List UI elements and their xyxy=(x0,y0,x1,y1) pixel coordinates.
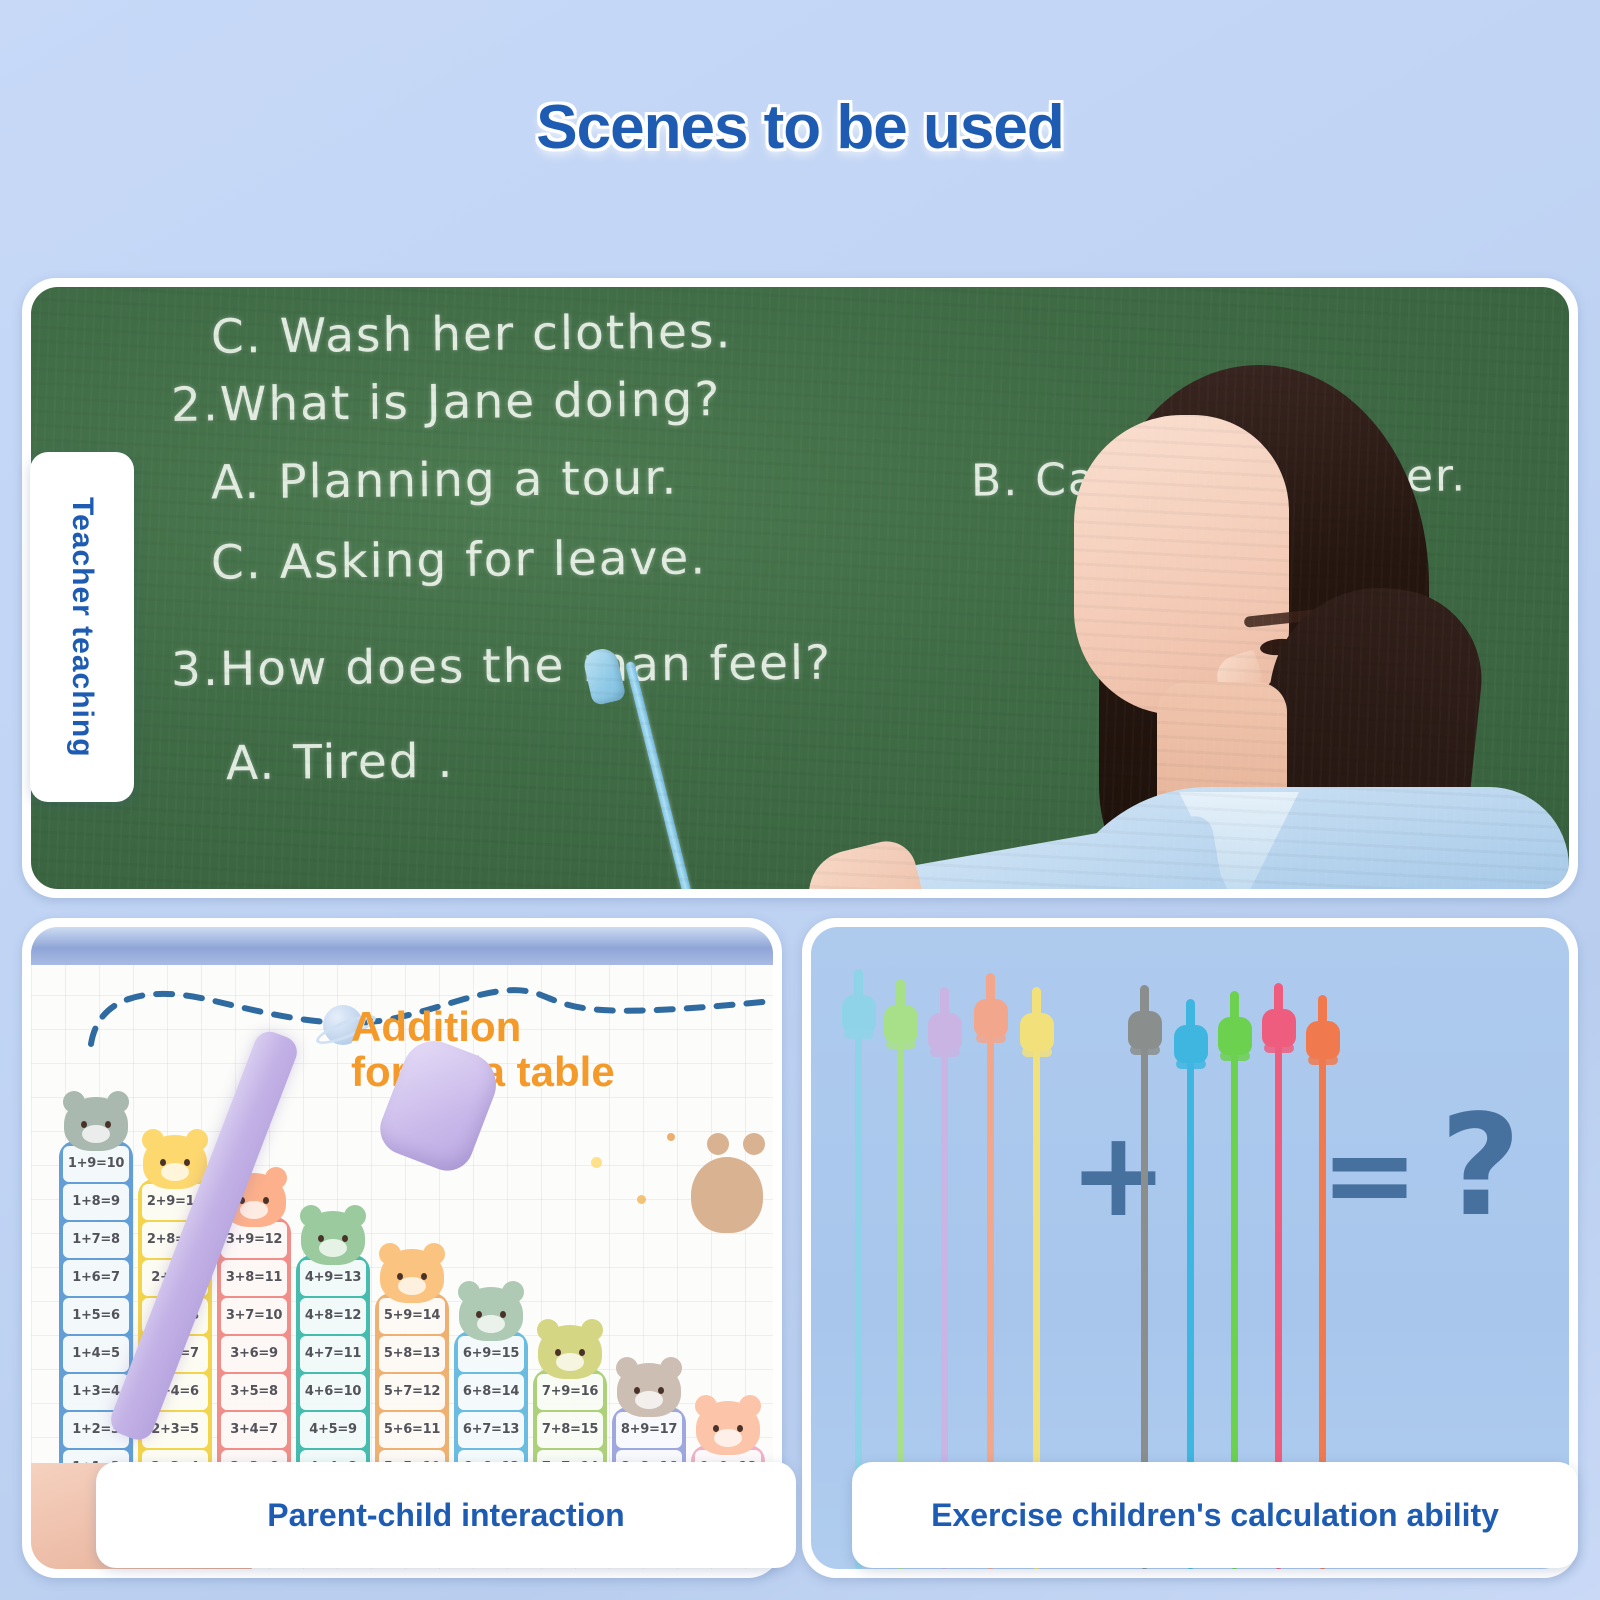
caption-exercise-label: Exercise children's calculation ability xyxy=(931,1497,1499,1534)
monkey-icon xyxy=(696,1401,760,1455)
formula-cell: 4+7=11 xyxy=(300,1336,366,1372)
pointing-finger-icon xyxy=(928,987,962,1051)
fox-icon xyxy=(538,1325,602,1379)
formula-cell: 6+8=14 xyxy=(458,1374,524,1410)
formula-cell: 3+9=12 xyxy=(221,1222,287,1258)
teacher-hand xyxy=(800,835,935,889)
formula-cell: 3+5=8 xyxy=(221,1374,287,1410)
formula-cell: 7+9=16 xyxy=(537,1374,603,1410)
chalkboard: C. Wash her clothes. 2.What is Jane doin… xyxy=(31,287,1569,889)
chalk-line-6: 3.How does the man feel? xyxy=(171,636,833,698)
badge-teacher-label: Teacher teaching xyxy=(65,497,99,758)
addition-column-1: 1+1=21+2=31+3=41+4=51+5=61+6=71+7=81+8=9… xyxy=(59,1141,133,1491)
pointing-finger-icon xyxy=(1306,995,1340,1059)
formula-cell: 5+7=12 xyxy=(379,1374,445,1410)
addition-column-4: 4+4=84+5=94+6=104+7=114+8=124+9=13 xyxy=(296,1255,370,1491)
plus-operator: + xyxy=(1069,1105,1168,1243)
formula-cell: 3+6=9 xyxy=(221,1336,287,1372)
pointing-finger-icon xyxy=(1128,985,1162,1049)
chalk-line-7: A. Tired . xyxy=(226,734,455,791)
formula-cell: 8+9=17 xyxy=(616,1412,682,1448)
panda-icon xyxy=(64,1097,128,1151)
pointing-finger-icon xyxy=(884,979,918,1043)
formula-cell: 4+9=13 xyxy=(300,1260,366,1296)
pointer-stick-icon xyxy=(625,661,757,889)
formula-cell: 5+6=11 xyxy=(379,1412,445,1448)
pig-icon xyxy=(301,1211,365,1265)
chalk-line-3: A. Planning a tour. xyxy=(211,451,679,511)
pointing-finger-icon xyxy=(1262,983,1296,1047)
formula-cell: 4+8=12 xyxy=(300,1298,366,1334)
formula-cell: 5+8=13 xyxy=(379,1336,445,1372)
piglet-icon xyxy=(617,1363,681,1417)
caption-parent-child-label: Parent-child interaction xyxy=(267,1497,624,1534)
formula-cell: 5+9=14 xyxy=(379,1298,445,1334)
pointing-finger-icon xyxy=(974,973,1008,1037)
formula-cell: 4+5=9 xyxy=(300,1412,366,1448)
chalk-line-1: C. Wash her clothes. xyxy=(211,304,733,364)
formula-cell: 3+8=11 xyxy=(221,1260,287,1296)
caption-exercise-calculation: Exercise children's calculation ability xyxy=(852,1462,1578,1568)
formula-cell: 3+7=10 xyxy=(221,1298,287,1334)
teacher-face xyxy=(1074,415,1289,715)
formula-cell: 1+4=5 xyxy=(63,1336,129,1372)
formula-cell: 3+4=7 xyxy=(221,1412,287,1448)
pointing-finger-icon xyxy=(842,969,876,1033)
chalk-line-5: C. Asking for leave. xyxy=(211,530,708,590)
panel-teacher-inner: C. Wash her clothes. 2.What is Jane doin… xyxy=(31,287,1569,889)
formula-cell: 1+7=8 xyxy=(63,1222,129,1258)
pointing-finger-icon xyxy=(1174,999,1208,1063)
formula-cell: 7+8=15 xyxy=(537,1412,603,1448)
equals-operator: = xyxy=(1320,1105,1419,1243)
question-mark: ? xyxy=(1440,1085,1521,1248)
chalk-line-2: 2.What is Jane doing? xyxy=(171,372,722,433)
formula-cell: 6+7=13 xyxy=(458,1412,524,1448)
badge-teacher-teaching: Teacher teaching xyxy=(30,452,134,802)
bear-icon xyxy=(380,1249,444,1303)
pointing-finger-icon xyxy=(1020,987,1054,1051)
formula-cell: 1+6=7 xyxy=(63,1260,129,1296)
formula-cell: 1+8=9 xyxy=(63,1184,129,1220)
page-title: Scenes to be used xyxy=(0,92,1600,163)
caption-parent-child-interaction: Parent-child interaction xyxy=(96,1462,796,1568)
panel-teacher-teaching: C. Wash her clothes. 2.What is Jane doin… xyxy=(22,278,1578,898)
lion-icon xyxy=(143,1135,207,1189)
formula-cell: 1+9=10 xyxy=(63,1146,129,1182)
formula-cell: 1+5=6 xyxy=(63,1298,129,1334)
cat-icon xyxy=(459,1287,523,1341)
pointing-finger-icon xyxy=(1218,991,1252,1055)
teacher-figure xyxy=(929,287,1569,889)
addition-column-3: 3+3=63+4=73+5=83+6=93+7=103+8=113+9=12 xyxy=(217,1217,291,1491)
formula-cell: 6+9=15 xyxy=(458,1336,524,1372)
formula-cell: 4+6=10 xyxy=(300,1374,366,1410)
